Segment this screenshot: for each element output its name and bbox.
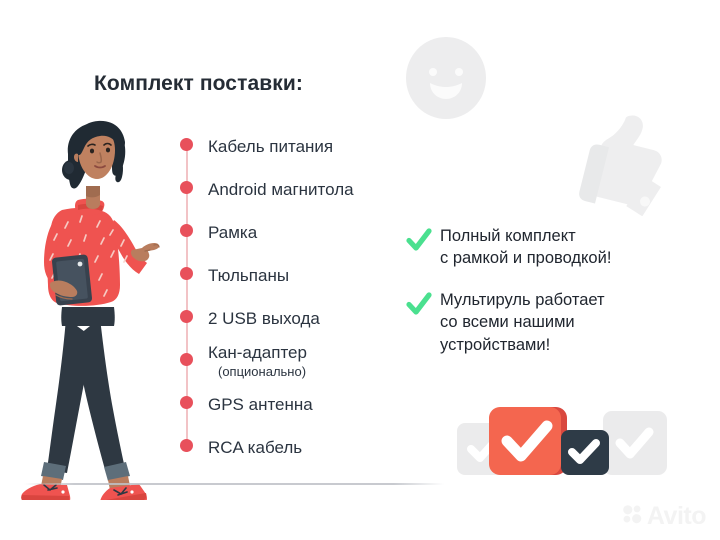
checkbox-cards-icon	[455, 405, 670, 485]
list-item-label: RCA кабель	[208, 439, 302, 456]
woman-with-tablet-illustration	[18, 110, 178, 500]
benefit-line: устройствами!	[440, 335, 605, 355]
bullet-dot-icon	[180, 138, 193, 151]
green-check-icon	[406, 227, 432, 253]
smiley-face-icon	[404, 36, 488, 120]
benefit-text: Полный комплект с рамкой и проводкой!	[440, 226, 611, 268]
benefit-item: Мультируль работает со всеми нашими устр…	[406, 290, 706, 354]
list-item-label: 2 USB выхода	[208, 310, 320, 327]
list-item-label: Кабель питания	[208, 138, 333, 155]
bullet-dot-icon	[180, 439, 193, 452]
bullet-dot-icon	[180, 267, 193, 280]
thumbs-up-icon	[576, 108, 678, 216]
list-item-label: Android магнитола	[208, 181, 354, 198]
green-check-icon	[406, 291, 432, 317]
benefit-text: Мультируль работает со всеми нашими устр…	[440, 290, 605, 354]
list-item-label: Тюльпаны	[208, 267, 289, 284]
avito-logo-icon	[621, 503, 643, 530]
package-list: Кабель питания Android магнитола Рамка Т…	[178, 132, 408, 462]
benefit-item: Полный комплект с рамкой и проводкой!	[406, 226, 706, 268]
avito-watermark-text: Avito	[647, 504, 706, 529]
promo-image-canvas: Комплект поставки: Кабель питания Androi…	[0, 0, 720, 540]
page-title: Комплект поставки:	[94, 72, 303, 96]
ground-line	[24, 483, 444, 485]
list-item-label: Кан-адаптер	[208, 344, 307, 361]
avito-watermark: Avito	[621, 503, 706, 530]
bullet-dot-icon	[180, 310, 193, 323]
bullet-dot-icon	[180, 181, 193, 194]
list-item-label: GPS антенна	[208, 396, 313, 413]
benefit-line: с рамкой и проводкой!	[440, 248, 611, 268]
benefit-line: Мультируль работает	[440, 290, 605, 310]
benefit-line: Полный комплект	[440, 226, 611, 246]
benefits-list: Полный комплект с рамкой и проводкой! Му…	[406, 226, 706, 371]
bullet-dot-icon	[180, 353, 193, 366]
benefit-line: со всеми нашими	[440, 312, 605, 332]
bullet-dot-icon	[180, 224, 193, 237]
list-item-sublabel: (опционально)	[218, 365, 306, 378]
bullet-dot-icon	[180, 396, 193, 409]
list-item-label: Рамка	[208, 224, 257, 241]
